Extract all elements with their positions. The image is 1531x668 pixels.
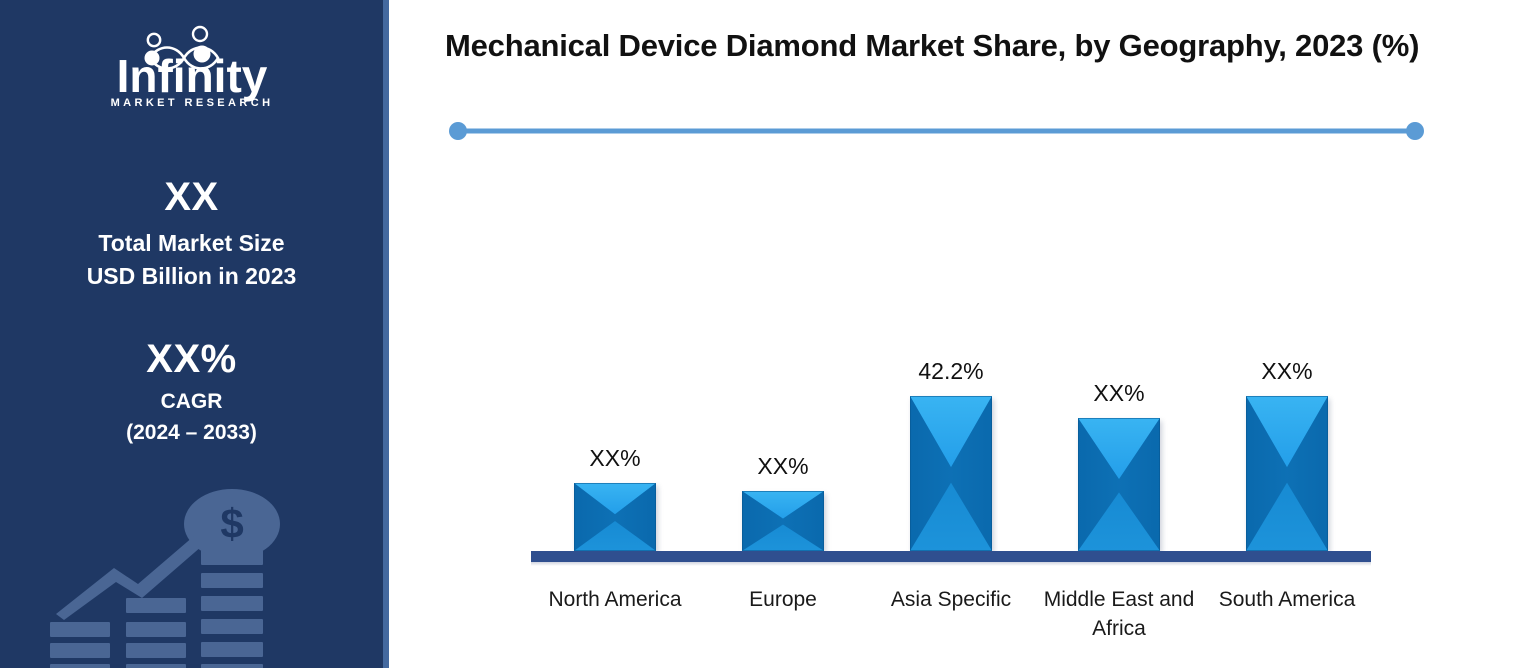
bar-south-america[interactable] [1246,396,1328,551]
bar-slot-middle-east-and-africa: XX% [1035,330,1203,551]
bar-value-label: 42.2% [918,358,983,385]
chart-panel: Mechanical Device Diamond Market Share, … [389,0,1531,668]
bar-value-label: XX% [589,445,640,472]
market-size-label-line2: USD Billion in 2023 [0,261,383,292]
chart-baseline [531,551,1371,562]
bar-middle-east-and-africa[interactable] [1078,418,1160,551]
chart-baseline-shadow [531,562,1371,566]
cagr-value: XX% [0,338,383,380]
logo-wordmark: Infinity [116,50,267,102]
bar-slot-south-america: XX% [1203,330,1371,551]
category-label-europe: Europe [699,586,867,644]
bar-north-america[interactable] [574,483,656,551]
growth-arrow-coins-icon: $ [46,486,346,668]
market-size-value: XX [0,176,383,218]
category-label-asia-specific: Asia Specific [867,586,1035,644]
category-label-north-america: North America [531,586,699,644]
bar-value-label: XX% [1093,380,1144,407]
infinity-people-icon: Infinity MARKET RESEARCH [72,24,312,110]
brand-logo: Infinity MARKET RESEARCH [0,24,383,110]
bar-slot-north-america: XX% [531,330,699,551]
logo-tagline: MARKET RESEARCH [110,97,273,109]
cagr-period: (2024 – 2033) [0,419,383,448]
cagr-label: CAGR [0,388,383,417]
category-label-south-america: South America [1203,586,1371,644]
bar-value-label: XX% [757,453,808,480]
sidebar-panel: Infinity MARKET RESEARCH XX Total Market… [0,0,383,668]
bar-slot-asia-specific: 42.2% [867,330,1035,551]
bar-group: XX% XX% 42.2% [531,330,1371,551]
market-size-label-line1: Total Market Size [0,228,383,259]
bar-asia-specific[interactable] [910,396,992,551]
stat-cagr: XX% CAGR (2024 – 2033) [0,338,383,447]
stat-market-size: XX Total Market Size USD Billion in 2023 [0,176,383,293]
bar-chart-plot: XX% XX% 42.2% [389,0,1531,668]
bar-value-label: XX% [1261,358,1312,385]
bar-europe[interactable] [742,491,824,551]
category-axis: North America Europe Asia Specific Middl… [531,586,1371,644]
dollar-sign-icon: $ [220,500,243,547]
category-label-middle-east-and-africa: Middle East and Africa [1035,586,1203,644]
market-research-infographic: Infinity MARKET RESEARCH XX Total Market… [0,0,1531,668]
bar-slot-europe: XX% [699,330,867,551]
